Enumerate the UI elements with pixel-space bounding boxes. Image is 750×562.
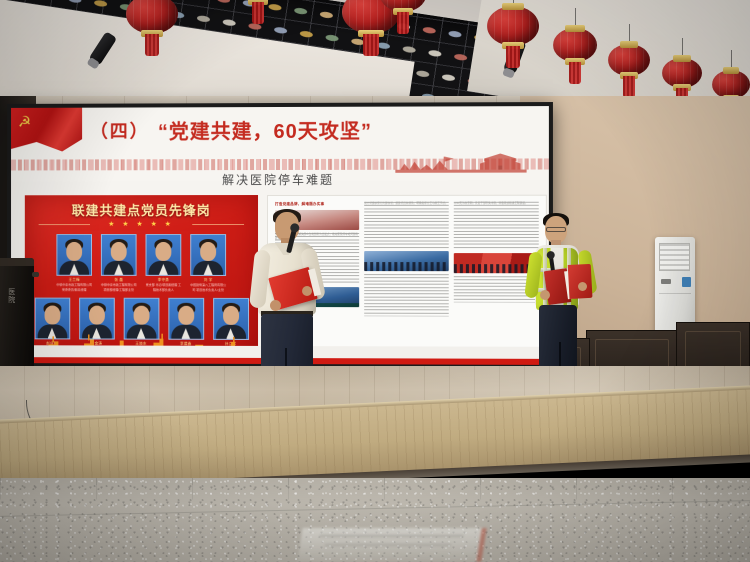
- star-divider: ★ ★ ★ ★ ★: [25, 220, 258, 228]
- ac-energy-sticker: [682, 277, 691, 287]
- red-lantern-icon: [608, 44, 650, 76]
- member-portrait: [146, 234, 182, 276]
- red-lantern-icon: [712, 70, 750, 99]
- screen-header: ☭ （四） “党建共建，60天攻坚”: [11, 106, 549, 181]
- lantern-cap-top: [502, 3, 525, 10]
- lantern-body: [487, 6, 539, 46]
- portrait-head: [133, 306, 149, 325]
- doc-column-2: 双方党组织签订共建协议，组建党员先锋队，明确责任分工与施工节点。: [364, 202, 449, 347]
- portrait-head: [44, 306, 60, 325]
- member-role: 中铁中泰市政工程有限公司 党委委员/副总经理: [56, 283, 92, 292]
- portrait-head: [66, 242, 82, 261]
- party-flag: ☭: [11, 108, 82, 152]
- glasses-icon: [546, 227, 566, 232]
- portrait-head: [89, 306, 105, 325]
- red-lantern-icon: [126, 0, 178, 34]
- podium-microphone-icon: [32, 272, 39, 277]
- lantern-tassel: [506, 46, 521, 68]
- party-member-board: 联建共建点党员先锋岗 ★ ★ ★ ★ ★ 王兰梅中铁中泰市政工程有限公司 党委委…: [25, 195, 258, 359]
- screen-title-line: （四） “党建共建，60天攻坚”: [90, 114, 539, 144]
- lantern-tassel: [397, 12, 410, 34]
- red-lantern-icon: [487, 6, 539, 46]
- member-portrait: [101, 234, 137, 276]
- screen-subtitle: 解决医院停车难题: [11, 171, 549, 189]
- lantern-cap-top: [673, 55, 691, 62]
- podium-label: 医院: [6, 288, 16, 304]
- red-lantern-icon: [553, 28, 597, 62]
- screen-reflection-on-floor: [297, 528, 482, 562]
- portrait-head: [178, 306, 194, 325]
- lantern-tassel: [252, 2, 264, 24]
- lantern-cap-top: [620, 41, 638, 48]
- reflection-line: [319, 535, 463, 537]
- ac-vent-grille: [659, 243, 690, 271]
- doc-body-text: 双方党组织签订共建协议，组建党员先锋队，明确责任分工与施工节点。: [364, 202, 449, 248]
- right-hand: [578, 282, 587, 291]
- lantern-tassel: [145, 34, 160, 56]
- lantern-tassel: [623, 76, 635, 98]
- member-portrait: [56, 234, 92, 276]
- portrait-row-top: 王兰梅中铁中泰市政工程有限公司 党委委员/副总经理张 磊中铁中泰市政工程有限公司…: [25, 234, 258, 292]
- member-role: 中国建筑第八工程局有限公司 项目技术负责人/主管: [190, 283, 226, 292]
- doc-image-group-photo: [364, 251, 449, 271]
- party-member-card: 张 磊中铁中泰市政工程有限公司 项目部经理/工程部主管: [101, 234, 137, 292]
- crowd-figures: [364, 262, 449, 271]
- lantern-cap-top: [723, 67, 740, 74]
- lantern-tassel: [363, 34, 379, 56]
- podium-top-surface: [0, 258, 34, 266]
- member-role: 中铁中泰市政工程有限公司 项目部经理/工程部主管: [101, 283, 137, 292]
- doc-body-text: [364, 274, 449, 316]
- lantern-body: [553, 28, 597, 62]
- page-title: “党建共建，60天攻坚”: [158, 115, 372, 145]
- portrait-head: [200, 242, 216, 261]
- member-portrait: [190, 234, 226, 276]
- red-lantern-icon: [380, 0, 426, 12]
- portrait-head: [111, 242, 127, 261]
- ac-brand-badge: [661, 279, 671, 284]
- portrait-head: [223, 306, 239, 325]
- reflection-line: [325, 544, 451, 546]
- hammer-sickle-emblem-icon: ☭: [18, 115, 35, 131]
- party-member-card: 王兰梅中铁中泰市政工程有限公司 党委委员/副总经理: [56, 234, 92, 292]
- lantern-body: [126, 0, 178, 34]
- title-number: （四）: [90, 117, 149, 143]
- red-lantern-icon: [236, 0, 280, 2]
- right-hand: [302, 286, 312, 296]
- left-hand: [270, 300, 281, 311]
- party-member-card: 刘 宇中国建筑第八工程局有限公司 项目技术负责人/主管: [190, 234, 226, 292]
- ac-panel-line: [659, 293, 691, 294]
- lantern-cap-top: [565, 25, 584, 32]
- red-lantern-icon: [662, 58, 702, 88]
- auditorium-scene: ☭ （四） “党建共建，60天攻坚”: [0, 0, 750, 562]
- lantern-tassel: [569, 62, 581, 84]
- portrait-head: [155, 242, 171, 261]
- member-role: 党支部 书记/项目副经理 工程技术部负责人: [146, 283, 182, 292]
- doc-headline: 打造党建品牌，解难题办实事: [275, 202, 359, 207]
- left-hand: [540, 290, 550, 300]
- party-member-card: 李守勇党支部 书记/项目副经理 工程技术部负责人: [146, 234, 182, 292]
- board-heading: 联建共建点党员先锋岗: [25, 200, 258, 219]
